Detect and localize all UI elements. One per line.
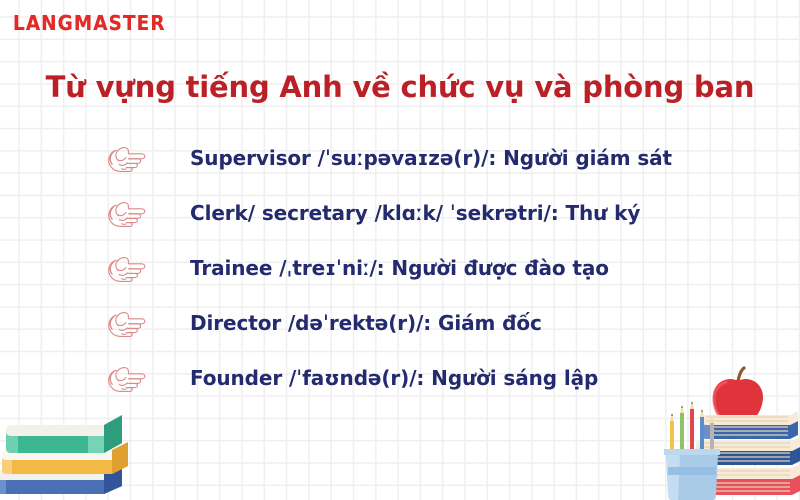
pointing-hand-icon [104,253,148,283]
vocab-entry-text: Supervisor /ˈsuːpəvaɪzə(r)/: Người giám … [190,145,672,171]
list-item: Clerk/ secretary /klɑːk/ ˈsekrətri/: Thư… [104,185,764,240]
vocab-entry-text: Clerk/ secretary /klɑːk/ ˈsekrətri/: Thư… [190,200,640,226]
vocabulary-list: Supervisor /ˈsuːpəvaɪzə(r)/: Người giám … [104,130,764,405]
list-item: Trainee /ˌtreɪˈniː/: Người được đào tạo [104,240,764,295]
pointing-hand-icon [104,363,148,393]
slide-canvas: LANGMASTER Từ vựng tiếng Anh về chức vụ … [0,0,800,500]
page-title: Từ vựng tiếng Anh về chức vụ và phòng ba… [0,68,800,106]
vocab-entry-text: Trainee /ˌtreɪˈniː/: Người được đào tạo [190,255,609,281]
list-item: Supervisor /ˈsuːpəvaɪzə(r)/: Người giám … [104,130,764,185]
pointing-hand-icon [104,198,148,228]
vocab-entry-text: Director /dəˈrektə(r)/: Giám đốc [190,310,542,336]
langmaster-logo: LANGMASTER [13,13,166,33]
stacked-books-icon [0,398,142,500]
pointing-hand-icon [104,308,148,338]
list-item: Director /dəˈrektə(r)/: Giám đốc [104,295,764,350]
pointing-hand-icon [104,143,148,173]
apple-books-pencils-icon [640,365,800,500]
vocab-entry-text: Founder /ˈfaʊndə(r)/: Người sáng lập [190,365,598,391]
